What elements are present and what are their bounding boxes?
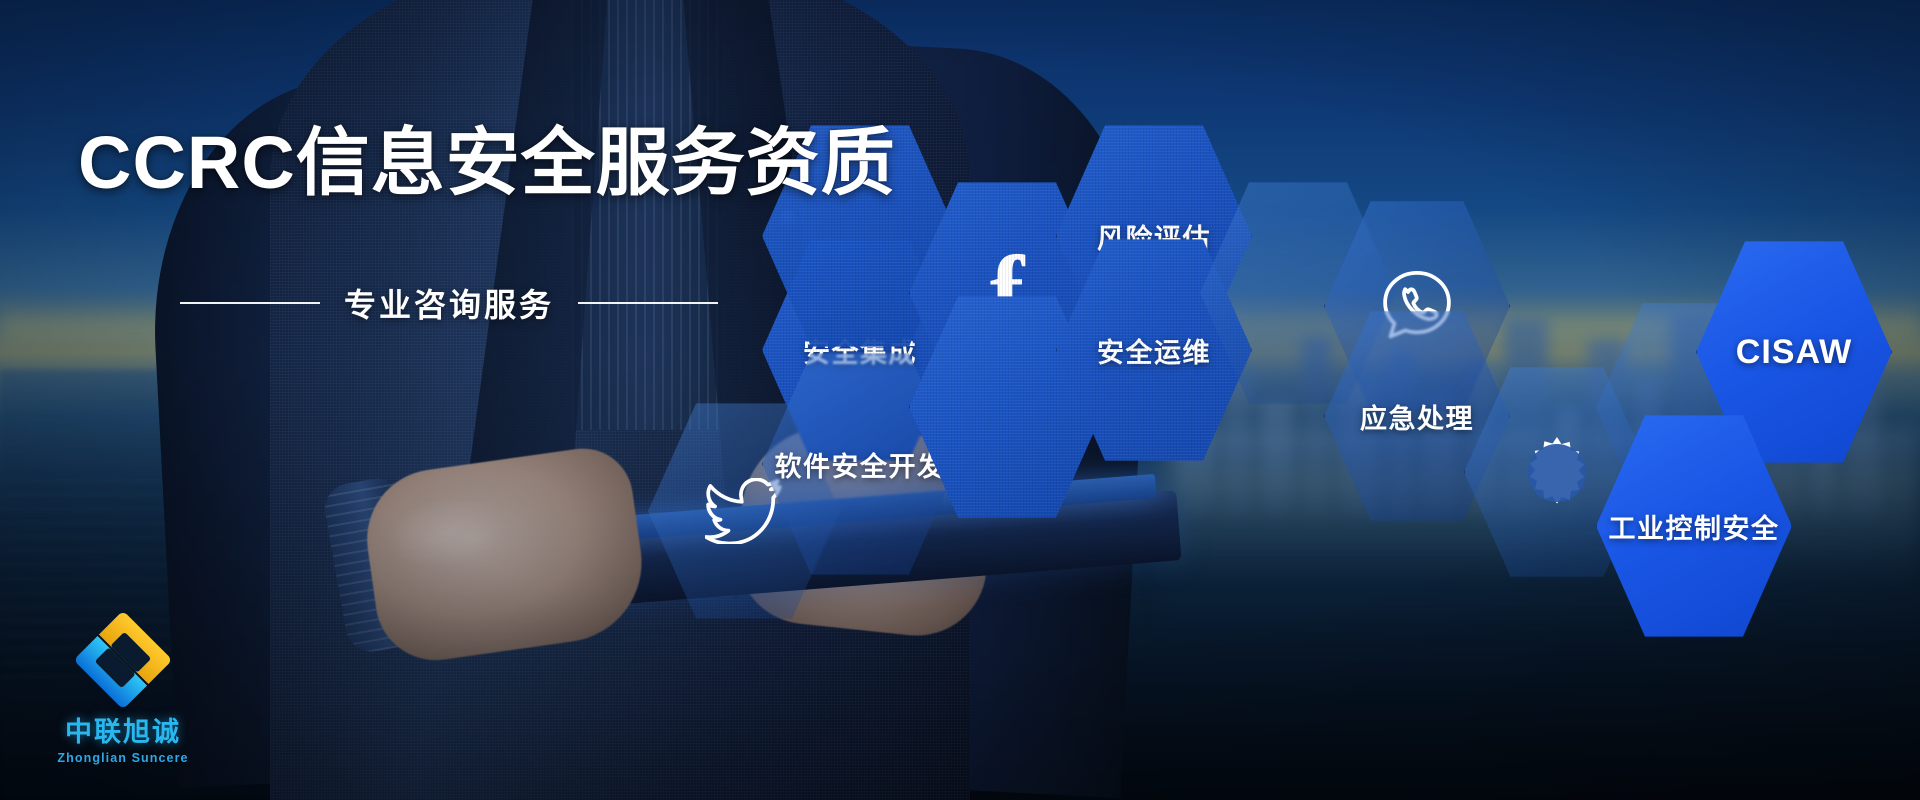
banner-title: CCRC信息安全服务资质: [78, 126, 896, 200]
logo-diamond-mark: [75, 612, 171, 708]
hexagon-label-security-operations: 安全运维: [1097, 331, 1211, 370]
hexagon-cluster: 安全集成 软件安全开发 f 风险评估 安全运维: [0, 0, 1920, 800]
banner-subtitle: 专业咨询服务: [344, 280, 554, 326]
logo-diamond-shape: [74, 611, 173, 710]
company-logo[interactable]: 中联旭诚 Zhonglian Suncere: [48, 612, 198, 765]
banner-subtitle-row: 专业咨询服务: [180, 280, 718, 326]
subtitle-rule-right: [578, 302, 718, 304]
logo-name-en: Zhonglian Suncere: [48, 751, 198, 765]
hexagon-label-cisaw: CISAW: [1736, 333, 1852, 372]
hexagon-label-software-security-development: 软件安全开发: [775, 445, 946, 484]
hexagon-label-emergency-response: 应急处理: [1360, 397, 1474, 436]
ccrc-promo-banner: 安全集成 软件安全开发 f 风险评估 安全运维: [0, 0, 1920, 800]
subtitle-rule-left: [180, 302, 320, 304]
hexagon-label-industrial-control-security: 工业控制安全: [1609, 507, 1780, 546]
logo-name-cn: 中联旭诚: [48, 710, 198, 749]
